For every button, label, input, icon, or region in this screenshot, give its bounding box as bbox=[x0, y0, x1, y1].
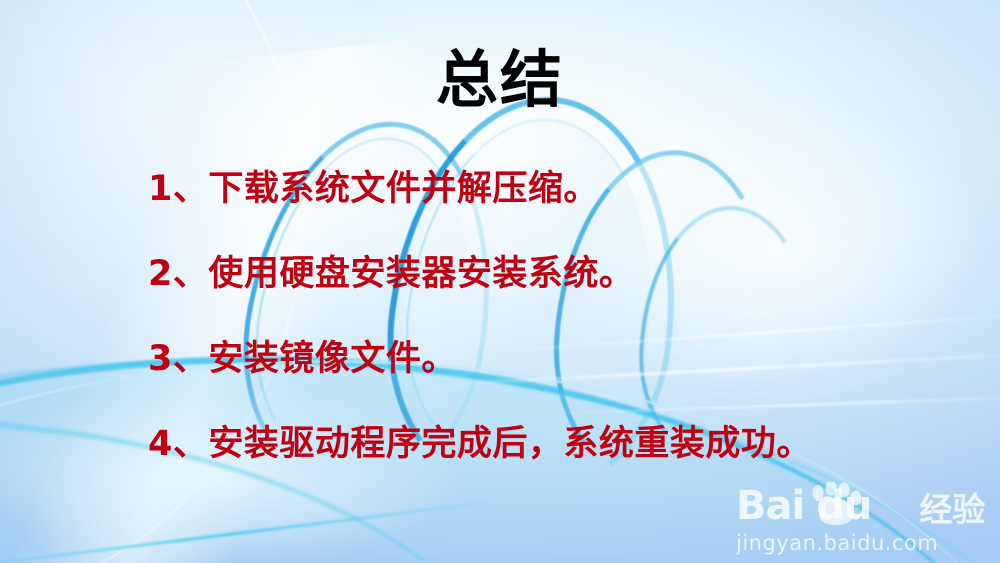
watermark-url: jingyan.baidu.com bbox=[736, 531, 986, 555]
slide-content: 总结 1、下载系统文件并解压缩。 2、使用硬盘安装器安装系统。 3、安装镜像文件… bbox=[0, 0, 1000, 563]
watermark-brand-latin-tail: du bbox=[816, 486, 871, 526]
bullet-item-4: 4、安装驱动程序完成后，系统重装成功。 bbox=[148, 427, 948, 462]
bullet-item-1: 1、下载系统文件并解压缩。 bbox=[148, 172, 948, 207]
presentation-slide: 总结 1、下载系统文件并解压缩。 2、使用硬盘安装器安装系统。 3、安装镜像文件… bbox=[0, 0, 1000, 563]
bullet-list: 1、下载系统文件并解压缩。 2、使用硬盘安装器安装系统。 3、安装镜像文件。 4… bbox=[148, 172, 948, 462]
watermark-brand-cn: 经验 bbox=[919, 493, 985, 526]
watermark-logo-row: Bai du 经验 bbox=[736, 480, 986, 526]
watermark-brand-latin: Bai bbox=[736, 486, 804, 526]
baidu-jingyan-watermark: Bai du 经验 jingyan.baidu.com bbox=[736, 480, 986, 555]
bullet-item-2: 2、使用硬盘安装器安装系统。 bbox=[148, 257, 948, 292]
slide-title: 总结 bbox=[0, 44, 1000, 115]
bullet-item-3: 3、安装镜像文件。 bbox=[148, 342, 948, 377]
